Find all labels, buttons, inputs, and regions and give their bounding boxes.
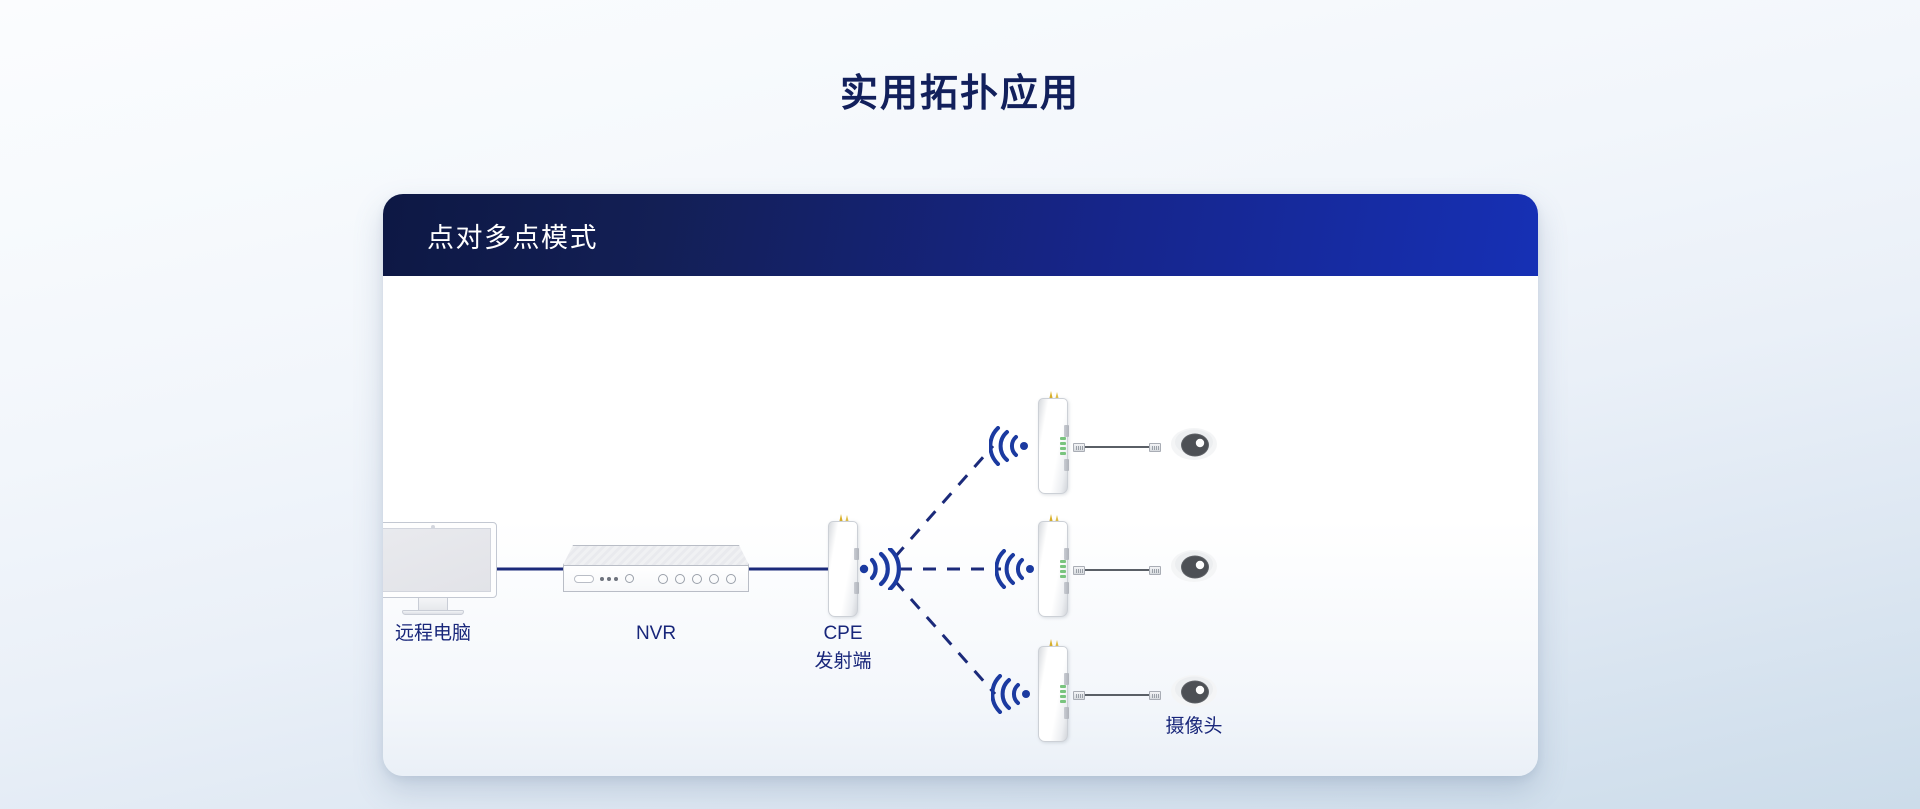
- wifi-signal-transmit-icon: [859, 548, 905, 590]
- cpe-body: [1038, 646, 1068, 742]
- wifi-signal-receive-2-icon: [995, 549, 1035, 589]
- cpe-port-upper: [1064, 673, 1069, 685]
- wifi-signal-receive-3-icon: [991, 674, 1031, 714]
- ethernet-cable-1: [1073, 442, 1161, 452]
- card-header-title: 点对多点模式: [427, 216, 598, 255]
- cpe-port-upper: [1064, 548, 1069, 560]
- cpe-receiver-3-icon: [1038, 646, 1068, 742]
- nvr-label: NVR: [556, 620, 756, 648]
- rj45-plug-icon: [1073, 443, 1085, 452]
- cpe-port-lower: [1064, 459, 1069, 471]
- cpe-led-indicators-icon: [1060, 560, 1066, 578]
- remote-pc-monitor-icon: [383, 522, 497, 616]
- cpe-led-indicators-icon: [1060, 685, 1066, 703]
- link-wireless-1: [895, 446, 993, 557]
- monitor-neck: [418, 598, 448, 610]
- camera-label: 摄像头: [1094, 713, 1294, 741]
- topology-card: 点对多点模式 远程电脑: [383, 194, 1538, 776]
- monitor-base: [402, 610, 464, 615]
- rj45-plug-icon: [1073, 691, 1085, 700]
- nvr-power-button-icon: [625, 574, 634, 583]
- nvr-icon: [563, 545, 749, 593]
- remote-pc-label: 远程电脑: [383, 620, 533, 648]
- cpe-receiver-2-icon: [1038, 521, 1068, 617]
- cpe-port-lower: [1064, 582, 1069, 594]
- connection-lines: [383, 276, 1538, 776]
- cpe-transmitter-icon: [828, 521, 858, 617]
- cpe-port-upper: [1064, 425, 1069, 437]
- dome-camera-2-icon: [1170, 548, 1218, 584]
- cable-wire: [1085, 569, 1149, 572]
- cpe-body: [1038, 521, 1068, 617]
- rj45-plug-icon: [1149, 443, 1161, 452]
- ethernet-cable-3: [1073, 690, 1161, 700]
- cpe-led-indicators-icon: [1060, 437, 1066, 455]
- cpe-port-lower: [1064, 707, 1069, 719]
- card-header: 点对多点模式: [383, 194, 1538, 276]
- nvr-status-dots-icon: [600, 577, 618, 581]
- rj45-plug-icon: [1073, 566, 1085, 575]
- topology-diagram: 远程电脑 NVR: [383, 276, 1538, 776]
- rj45-plug-icon: [1149, 691, 1161, 700]
- cpe-body: [1038, 398, 1068, 494]
- cpe-receiver-1-icon: [1038, 398, 1068, 494]
- nvr-front-panel: [563, 565, 749, 592]
- webcam-dot-icon: [431, 525, 435, 529]
- cpe-transmitter-label: CPE 发射端: [743, 620, 943, 676]
- cpe-body: [828, 521, 858, 617]
- cable-wire: [1085, 446, 1149, 449]
- page-title: 实用拓扑应用: [0, 0, 1920, 117]
- dome-camera-3-icon: [1170, 673, 1218, 709]
- rj45-plug-icon: [1149, 566, 1161, 575]
- ethernet-cable-2: [1073, 565, 1161, 575]
- nvr-chassis-top: [563, 545, 749, 565]
- wifi-signal-receive-1-icon: [989, 426, 1029, 466]
- dome-camera-1-icon: [1170, 426, 1218, 462]
- monitor-display: [383, 528, 491, 592]
- nvr-slot-icon: [574, 575, 594, 583]
- cable-wire: [1085, 694, 1149, 697]
- monitor-screen: [383, 522, 497, 598]
- nvr-ports-icon: [658, 574, 736, 584]
